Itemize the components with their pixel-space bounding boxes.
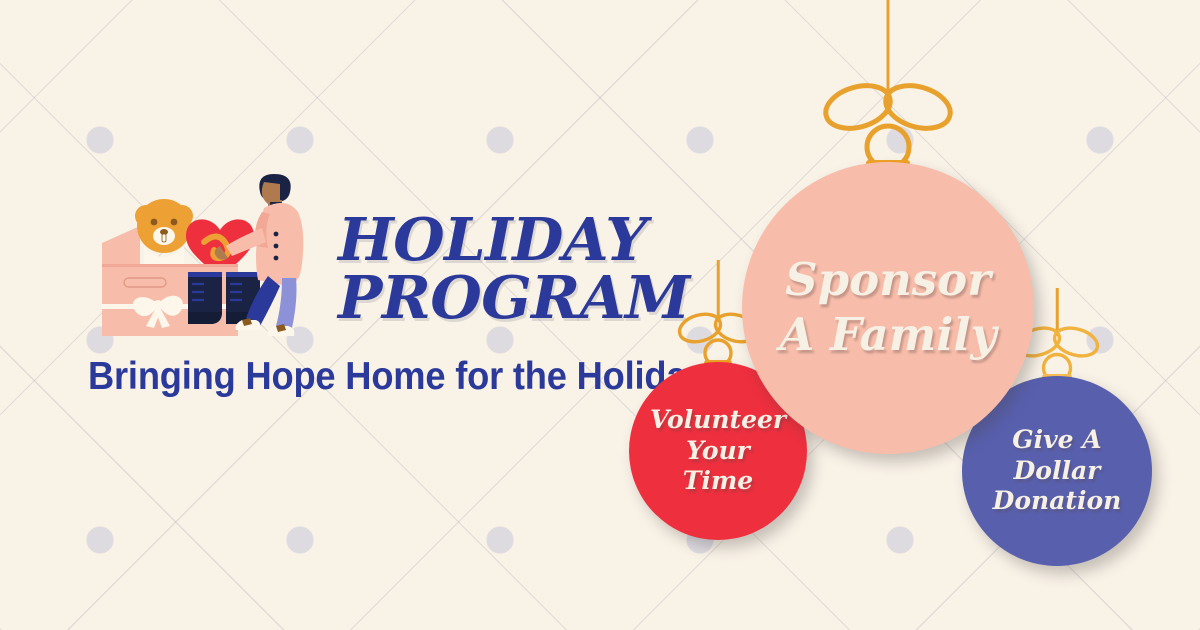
holiday-program-poster: HOLIDAY PROGRAM Bringing Hope Home for t…: [0, 0, 1200, 630]
ornament-label-line: Sponsor: [779, 253, 996, 308]
headline-line-1: HOLIDAY: [338, 212, 668, 268]
ornament-label-line: A Family: [779, 308, 996, 363]
ornament-label-line: Donation: [993, 486, 1122, 517]
ornament-ball-sponsor[interactable]: Sponsor A Family: [742, 162, 1034, 454]
ornament-label-sponsor: Sponsor A Family: [771, 253, 1004, 363]
donation-box-illustration: [92, 168, 332, 358]
ornament-sponsor[interactable]: Sponsor A Family: [738, 0, 1038, 485]
headline-line-2: PROGRAM: [338, 270, 668, 326]
page-title: HOLIDAY PROGRAM: [338, 212, 668, 326]
